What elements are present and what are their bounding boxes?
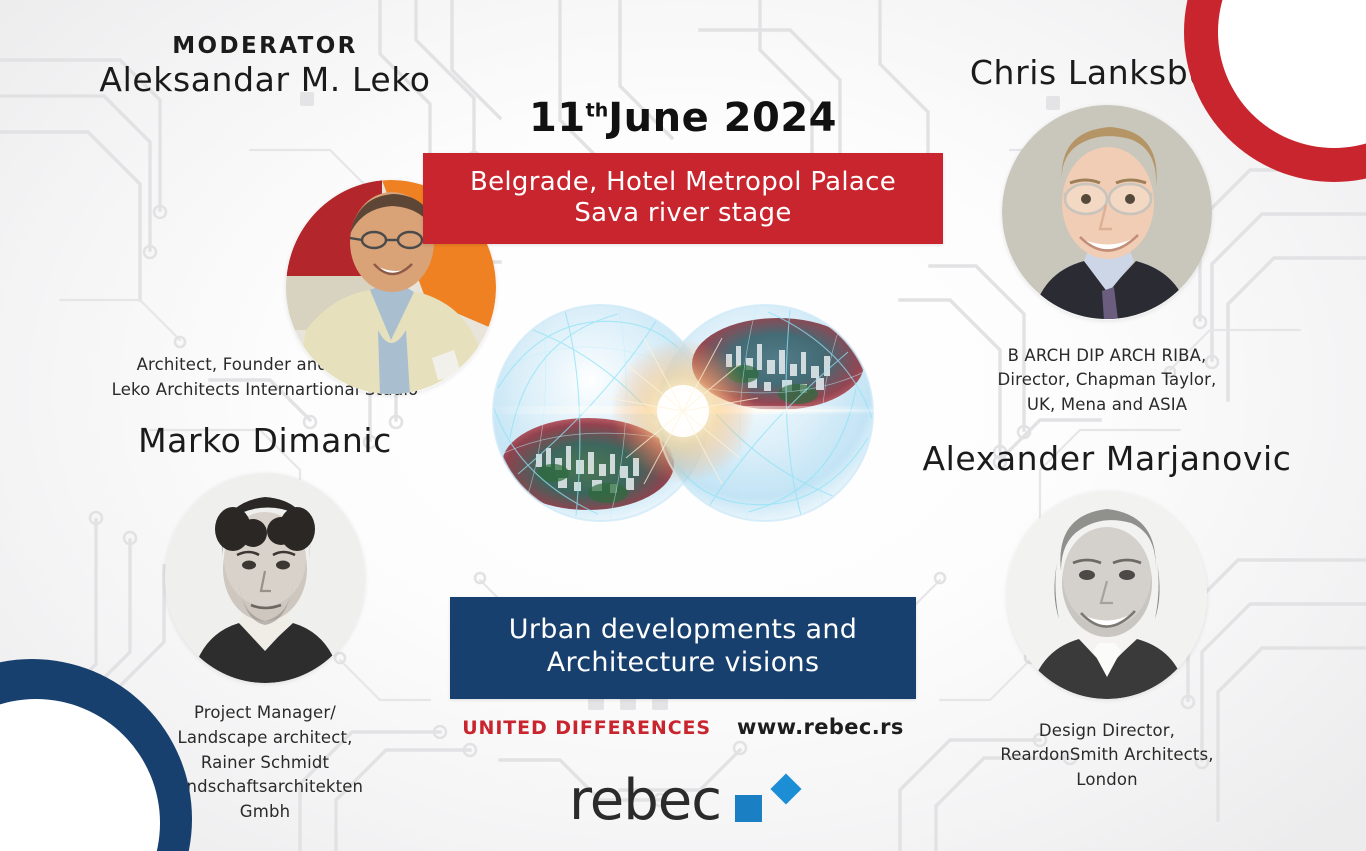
event-poster: MODERATOR Aleksandar M. Leko <box>0 0 1366 851</box>
event-date-day: 11 <box>529 95 586 141</box>
topic-line-2: Architecture visions <box>460 647 906 680</box>
event-date-rest: June 2024 <box>608 95 837 141</box>
venue-line-2: Sava river stage <box>433 198 933 229</box>
marko-dimanic-portrait <box>165 473 365 683</box>
rebec-logo-wordmark: rebec <box>569 773 721 829</box>
alexander-marjanovic-portrait <box>1007 491 1207 699</box>
moderator-role-label: MODERATOR <box>30 34 500 59</box>
event-date: 11thJune 2024 <box>423 98 943 138</box>
rebec-logo[interactable]: rebec <box>569 773 797 829</box>
person-alexander-marjanovic: Alexander Marjanovic <box>872 442 1342 793</box>
topic-banner: Urban developments and Architecture visi… <box>450 597 916 699</box>
moderator-name: Aleksandar M. Leko <box>30 63 500 98</box>
event-topic-block: Urban developments and Architecture visi… <box>450 597 916 739</box>
slogan-text: UNITED DIFFERENCES <box>462 717 711 739</box>
logo-diamond-icon <box>770 773 801 804</box>
twin-spheres-graphic <box>458 268 908 558</box>
slogan-row: UNITED DIFFERENCES www.rebec.rs <box>450 715 916 739</box>
chris-lanksbury-caption: B ARCH DIP ARCH RIBA, Director, Chapman … <box>872 344 1342 418</box>
rebec-logo-marks <box>735 778 797 824</box>
venue-banner: Belgrade, Hotel Metropol Palace Sava riv… <box>423 153 943 244</box>
event-date-ordinal: th <box>586 100 609 122</box>
logo-square-icon <box>735 795 762 822</box>
venue-line-1: Belgrade, Hotel Metropol Palace <box>433 167 933 198</box>
topic-line-1: Urban developments and <box>460 614 906 647</box>
chris-lanksbury-portrait <box>1002 105 1212 320</box>
alexander-marjanovic-caption: Design Director, ReardonSmith Architects… <box>872 719 1342 793</box>
website-link[interactable]: www.rebec.rs <box>737 715 904 739</box>
alexander-marjanovic-name: Alexander Marjanovic <box>872 442 1342 477</box>
marko-dimanic-name: Marko Dimanic <box>30 424 500 459</box>
event-header-block: 11thJune 2024 Belgrade, Hotel Metropol P… <box>423 98 943 244</box>
